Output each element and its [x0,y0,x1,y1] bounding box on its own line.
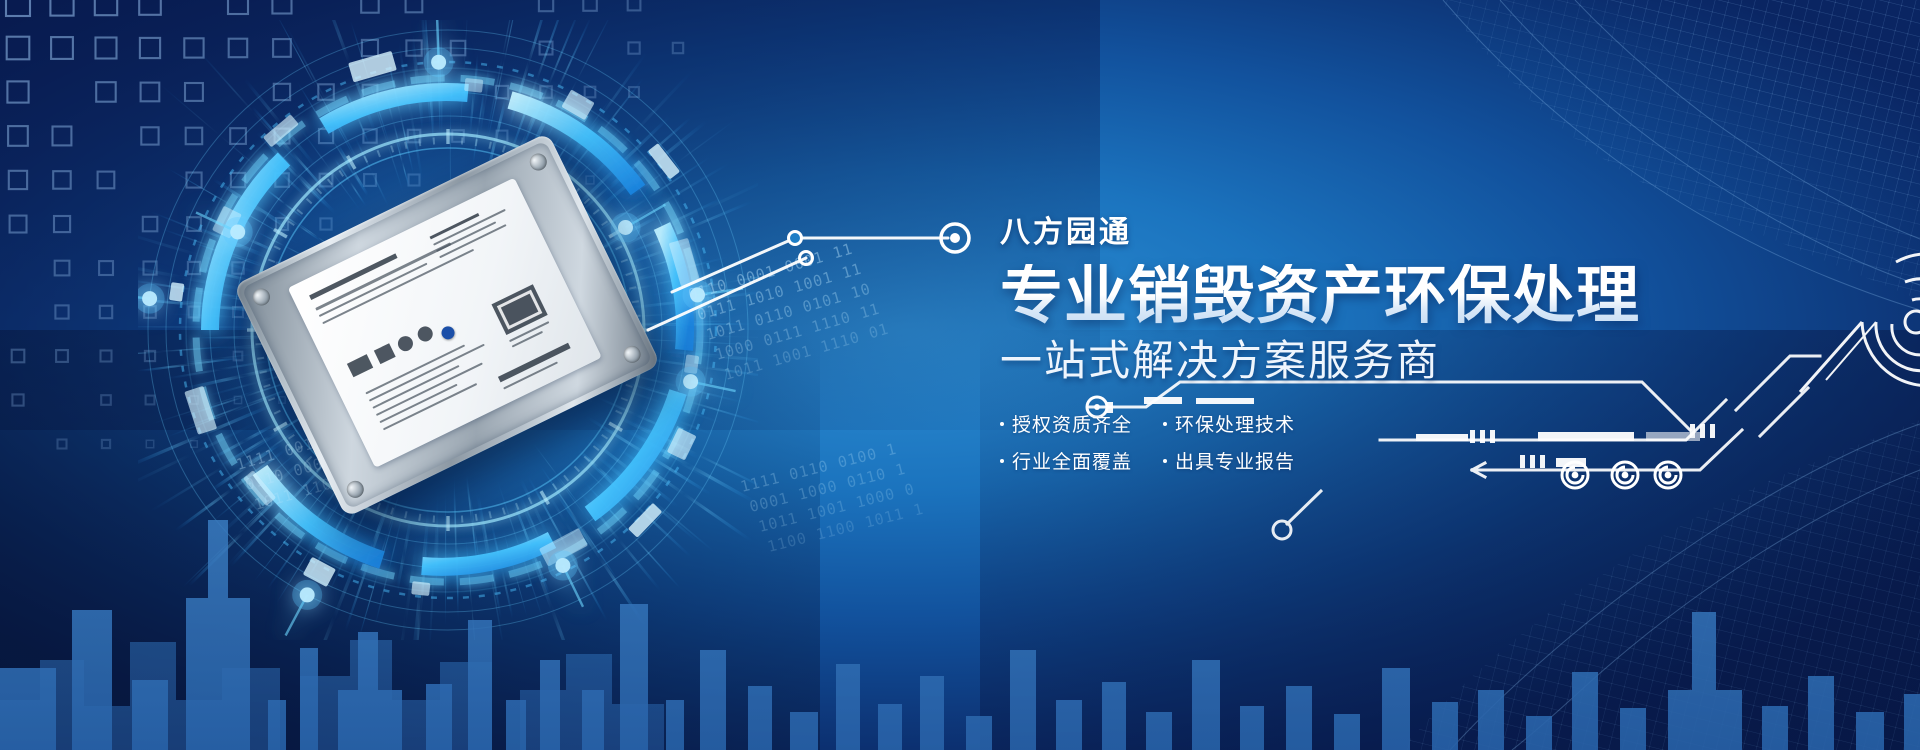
hero-banner: 1011 1011 0010 1101 0000 0000 0111 0110 … [0,0,1920,750]
callout-lines [0,0,1920,750]
callout-line-upper [672,238,948,292]
callout-node [789,232,802,245]
callout-target-dot [950,233,960,243]
